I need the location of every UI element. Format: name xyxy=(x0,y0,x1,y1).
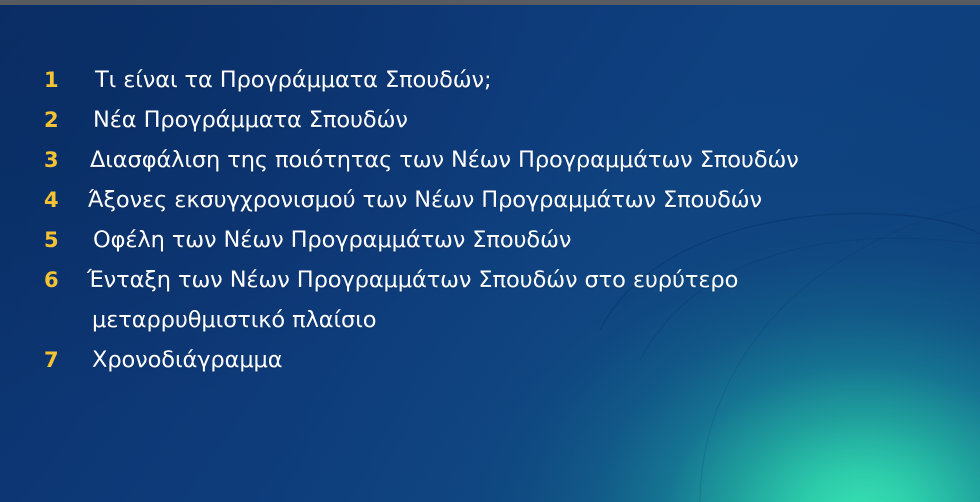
agenda-list: 1 Τι είναι τα Προγράμματα Σπουδών; 2 Νέα… xyxy=(0,60,980,380)
list-item: 5 Οφέλη των Νέων Προγραμμάτων Σπουδών xyxy=(0,220,980,260)
list-item-label: Νέα Προγράμματα Σπουδών xyxy=(52,100,408,140)
list-item-label: Χρονοδιάγραμμα xyxy=(52,340,283,380)
list-item-number: 2 xyxy=(0,100,52,140)
list-item-continuation: μεταρρυθμιστικό πλαίσιο xyxy=(0,300,980,340)
list-item-number: 5 xyxy=(0,220,52,260)
list-item-number: 6 xyxy=(0,260,52,300)
list-item-label: Τι είναι τα Προγράμματα Σπουδών; xyxy=(52,60,491,100)
list-item-number: 1 xyxy=(0,60,52,100)
list-item-label: Ένταξη των Νέων Προγραμμάτων Σπουδών στο… xyxy=(52,260,738,300)
list-item: 6 Ένταξη των Νέων Προγραμμάτων Σπουδών σ… xyxy=(0,260,980,300)
list-item-label: Άξονες εκσυγχρονισμού των Νέων Προγραμμά… xyxy=(52,180,762,220)
list-item-number: 7 xyxy=(0,340,52,380)
list-item-label: Οφέλη των Νέων Προγραμμάτων Σπουδών xyxy=(52,220,571,260)
list-item: 1 Τι είναι τα Προγράμματα Σπουδών; xyxy=(0,60,980,100)
list-item: 7 Χρονοδιάγραμμα xyxy=(0,340,980,380)
presentation-slide: 1 Τι είναι τα Προγράμματα Σπουδών; 2 Νέα… xyxy=(0,0,980,502)
list-item-label: Διασφάλιση της ποιότητας των Νέων Προγρα… xyxy=(52,140,799,180)
list-item: 3 Διασφάλιση της ποιότητας των Νέων Προγ… xyxy=(0,140,980,180)
list-item: 2 Νέα Προγράμματα Σπουδών xyxy=(0,100,980,140)
list-item: 4 Άξονες εκσυγχρονισμού των Νέων Προγραμ… xyxy=(0,180,980,220)
list-item-label-line2: μεταρρυθμιστικό πλαίσιο xyxy=(0,300,376,340)
list-item-number: 3 xyxy=(0,140,52,180)
list-item-number: 4 xyxy=(0,180,52,220)
top-edge-strip xyxy=(0,0,980,5)
